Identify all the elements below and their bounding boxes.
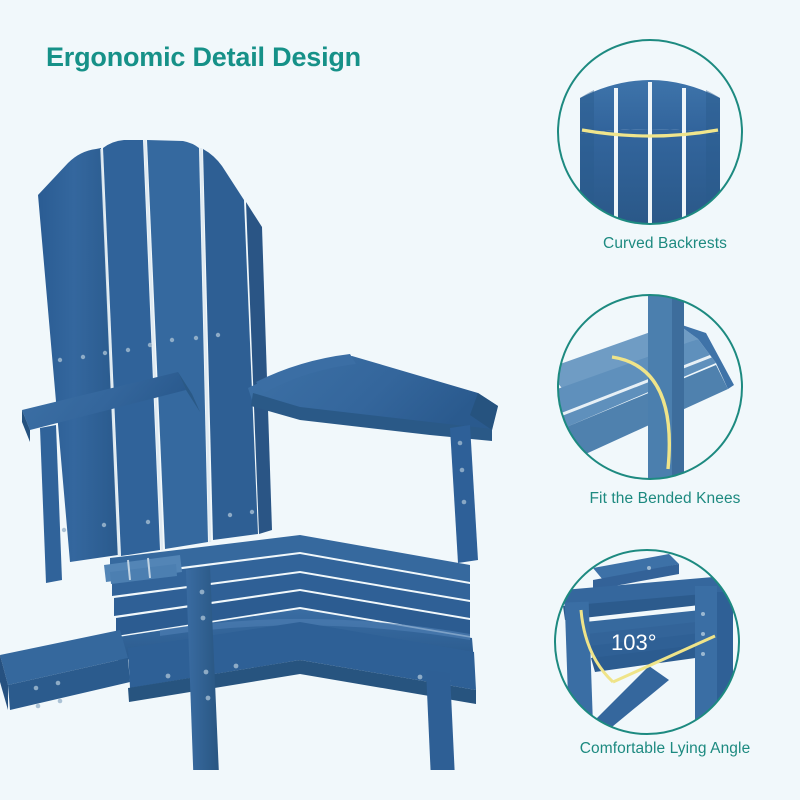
bended-knee-detail-icon	[556, 293, 744, 481]
feature-caption-bended-knees: Fit the Bended Knees	[530, 490, 800, 508]
curved-backrest-detail-icon	[556, 38, 744, 226]
feature-column: Curved Backrests	[530, 0, 800, 800]
feature-card-lying-angle: 103° Comfortable Lying Angle	[530, 540, 800, 790]
adirondack-chair-illustration	[0, 110, 530, 770]
right-arm-post	[450, 425, 478, 563]
page-title: Ergonomic Detail Design	[46, 42, 361, 73]
feature-card-curved-backrests: Curved Backrests	[530, 30, 800, 285]
lying-angle-detail-icon: 103°	[553, 548, 741, 736]
backrest-slats	[38, 140, 272, 562]
feature-caption-lying-angle: Comfortable Lying Angle	[530, 740, 800, 758]
hero-product-image	[0, 110, 530, 770]
infographic-canvas: Ergonomic Detail Design	[0, 0, 800, 800]
left-arm-post	[40, 425, 62, 583]
footrest-board	[0, 630, 130, 710]
angle-value-label: 103°	[611, 630, 657, 655]
feature-card-bended-knees: Fit the Bended Knees	[530, 285, 800, 540]
feature-caption-curved-backrests: Curved Backrests	[530, 235, 800, 253]
